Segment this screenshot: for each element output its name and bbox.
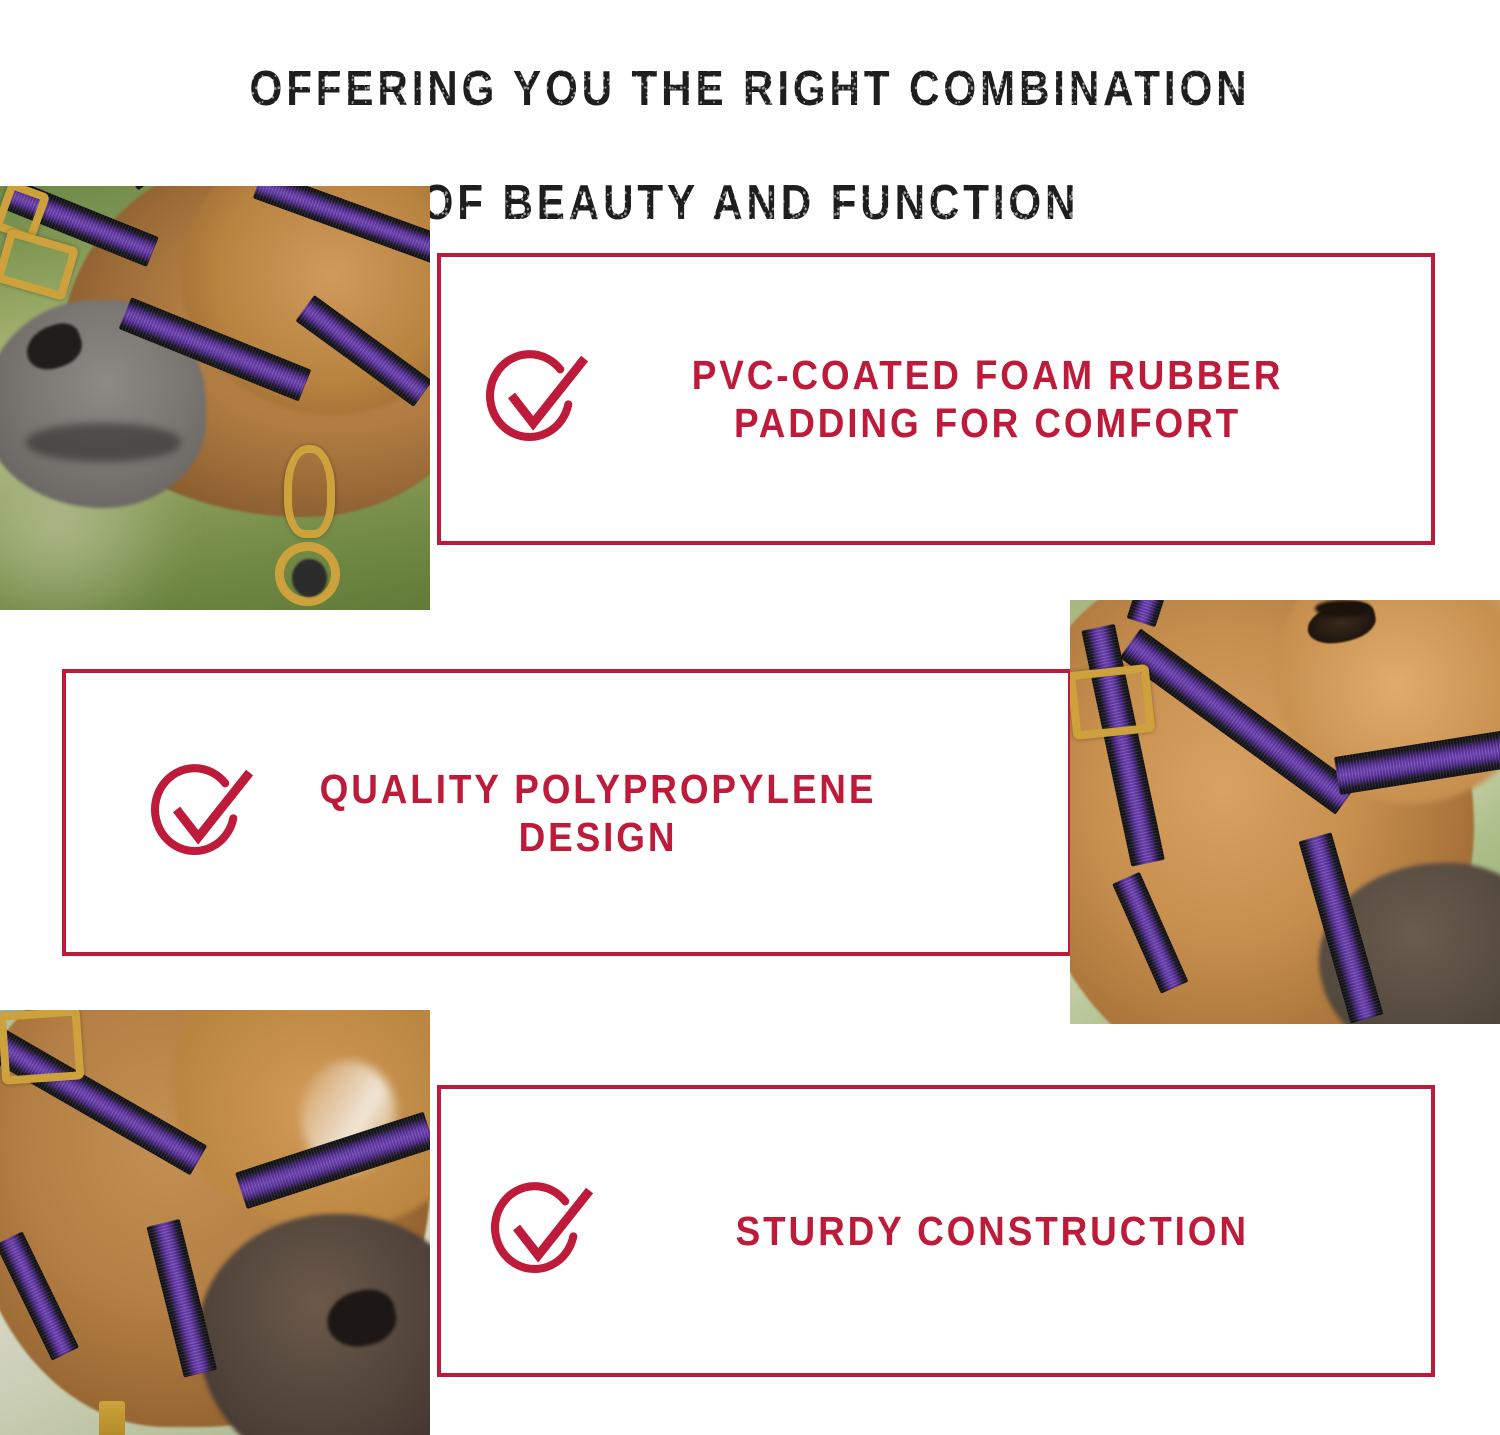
product-photo-horse-muzzle-with-halter-and-snap-clip [0, 186, 430, 610]
horse-lip-shadow [26, 423, 181, 461]
brass-clip-shank [99, 1401, 125, 1435]
brass-square-ring [1070, 664, 1155, 740]
brass-snap-clip [284, 445, 336, 538]
feature-label: QUALITY POLYPROPYLENE DESIGN [295, 765, 1028, 861]
feature-box-sturdy-construction[interactable]: STURDY CONSTRUCTION [437, 1085, 1435, 1377]
infographic-canvas: OFFERING YOU THE RIGHT COMBINATION OF BE… [0, 0, 1500, 1435]
feature-label: STURDY CONSTRUCTION [636, 1207, 1389, 1255]
page-title-line-1: OFFERING YOU THE RIGHT COMBINATION [105, 61, 1395, 118]
check-circle-icon [481, 345, 589, 453]
check-circle-icon [146, 759, 254, 867]
feature-label: PVC-COATED FOAM RUBBER PADDING FOR COMFO… [631, 351, 1389, 447]
lead-rope-end [292, 559, 326, 597]
brass-square-ring [0, 1010, 84, 1085]
feature-box-pvc-coated-foam-rubber-padding[interactable]: PVC-COATED FOAM RUBBER PADDING FOR COMFO… [437, 253, 1435, 545]
horse-eyelashes [1315, 600, 1371, 617]
feature-box-quality-polypropylene-design[interactable]: QUALITY POLYPROPYLENE DESIGN [62, 669, 1072, 956]
product-photo-horse-nose-with-halter-and-ring [0, 1010, 430, 1435]
check-circle-icon [486, 1177, 594, 1285]
product-photo-horse-head-profile-with-halter [1070, 600, 1500, 1024]
